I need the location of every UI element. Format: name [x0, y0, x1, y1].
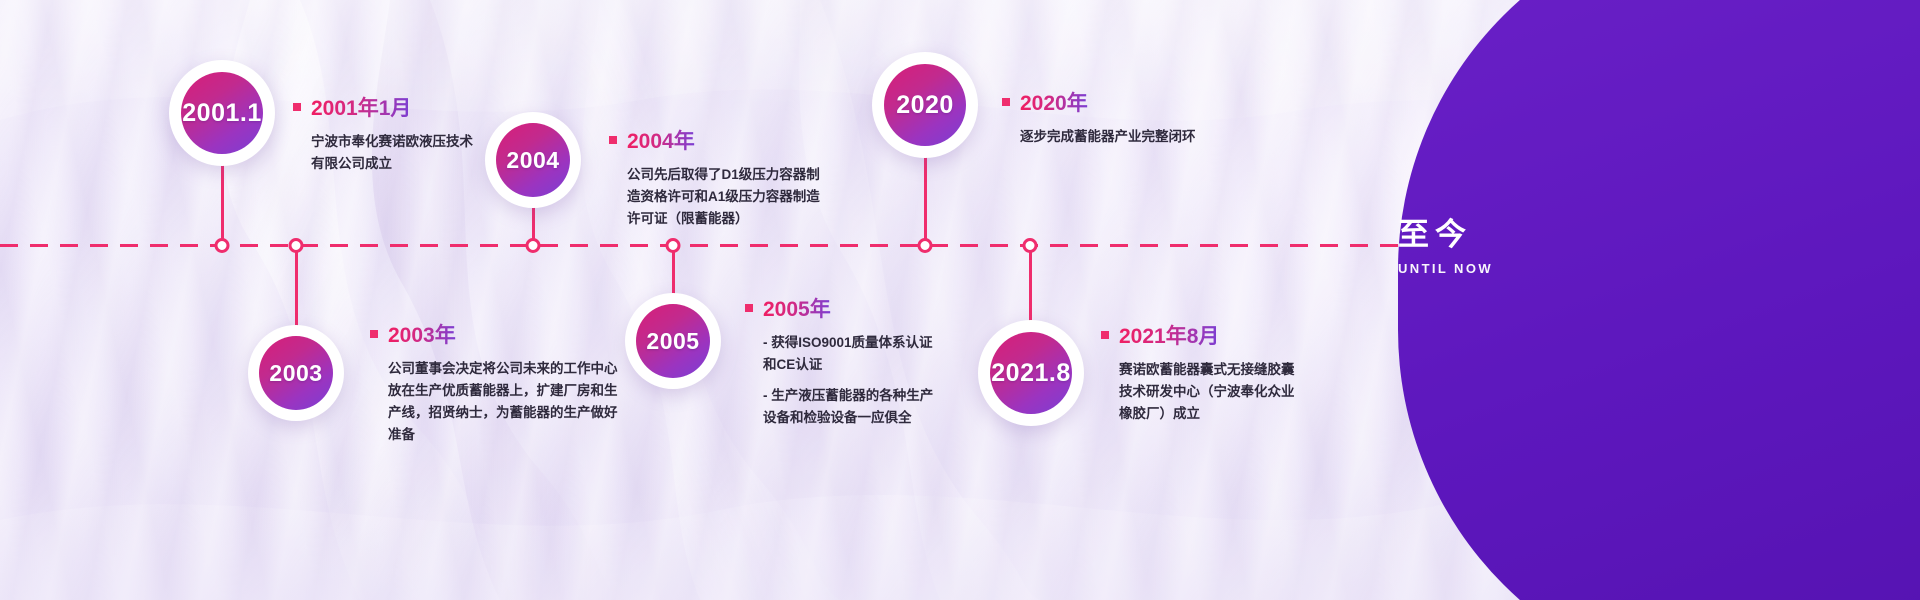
milestone-node-2004-label: 2004	[496, 123, 570, 197]
milestone-node-2001[interactable]: 2001.1	[169, 60, 275, 166]
timeline-infographic: 至今 UNTIL NOW 2001.1 2003 2004 2005 2020 …	[0, 0, 1920, 600]
desc-line: 准备	[388, 424, 600, 446]
milestone-node-2020[interactable]: 2020	[872, 52, 978, 158]
desc-line: 许可证（限蓄能器）	[627, 208, 839, 230]
milestone-block-2004: 2004年 公司先后取得了D1级压力容器制 造资格许可和A1级压力容器制造 许可…	[609, 125, 839, 230]
milestone-desc-2004: 公司先后取得了D1级压力容器制 造资格许可和A1级压力容器制造 许可证（限蓄能器…	[627, 164, 839, 230]
desc-line: 宁波市奉化赛诺欧液压技术	[311, 131, 493, 153]
milestone-desc-2003: 公司董事会决定将公司未来的工作中心 放在生产优质蓄能器上，扩建厂房和生 产线，招…	[388, 358, 600, 445]
milestone-node-2005[interactable]: 2005	[625, 293, 721, 389]
until-now-panel	[1398, 0, 1920, 600]
milestone-node-2004[interactable]: 2004	[485, 112, 581, 208]
stem-2003	[295, 245, 298, 327]
desc-line: 逐步完成蓄能器产业完整闭环	[1020, 126, 1282, 148]
axis-dot-2021	[1023, 238, 1038, 253]
axis-dot-2001	[215, 238, 230, 253]
milestone-node-2021-label: 2021.8	[990, 332, 1072, 414]
milestone-block-2021: 2021年8月 赛诺欧蓄能器囊式无接缝胶囊 技术研发中心（宁波奉化众业 橡胶厂）…	[1101, 320, 1331, 425]
desc-line: 放在生产优质蓄能器上，扩建厂房和生	[388, 380, 600, 402]
milestone-block-2005: 2005年 - 获得ISO9001质量体系认证 和CE认证 - 生产液压蓄能器的…	[745, 293, 965, 428]
milestone-block-2020: 2020年 逐步完成蓄能器产业完整闭环	[1002, 87, 1282, 148]
desc-line: 造资格许可和A1级压力容器制造	[627, 186, 839, 208]
desc-line: 赛诺欧蓄能器囊式无接缝胶囊	[1119, 359, 1331, 381]
desc-line: 有限公司成立	[311, 153, 493, 175]
milestone-title-2004: 2004年	[627, 125, 695, 155]
desc-line: 公司先后取得了D1级压力容器制	[627, 164, 839, 186]
milestone-block-2001: 2001年1月 宁波市奉化赛诺欧液压技术 有限公司成立	[293, 92, 493, 175]
desc-line: 和CE认证	[763, 354, 965, 376]
stem-2005	[672, 245, 675, 300]
milestone-head-2005: 2005年	[745, 293, 965, 323]
milestone-node-2003-label: 2003	[259, 336, 333, 410]
axis-dot-2003	[289, 238, 304, 253]
desc-line: 橡胶厂）成立	[1119, 403, 1331, 425]
milestone-title-2021: 2021年8月	[1119, 320, 1219, 350]
bullet-square-icon	[293, 103, 301, 111]
milestone-head-2001: 2001年1月	[293, 92, 493, 122]
stem-2001	[221, 165, 224, 245]
milestone-desc-2001: 宁波市奉化赛诺欧液压技术 有限公司成立	[311, 131, 493, 175]
desc-line: - 生产液压蓄能器的各种生产	[763, 385, 965, 407]
bullet-square-icon	[1002, 98, 1010, 106]
until-now-label-en: UNTIL NOW	[1398, 261, 1598, 276]
desc-line: - 获得ISO9001质量体系认证	[763, 332, 965, 354]
milestone-block-2003: 2003年 公司董事会决定将公司未来的工作中心 放在生产优质蓄能器上，扩建厂房和…	[370, 319, 600, 445]
milestone-head-2003: 2003年	[370, 319, 600, 349]
bullet-square-icon	[1101, 331, 1109, 339]
stem-2020	[924, 152, 927, 246]
milestone-desc-2005: - 获得ISO9001质量体系认证 和CE认证 - 生产液压蓄能器的各种生产 设…	[763, 332, 965, 428]
bullet-square-icon	[609, 136, 617, 144]
milestone-node-2005-label: 2005	[636, 304, 710, 378]
bullet-square-icon	[745, 304, 753, 312]
stem-2021	[1029, 245, 1032, 323]
milestone-node-2020-label: 2020	[884, 64, 966, 146]
desc-line: 设备和检验设备一应俱全	[763, 407, 965, 429]
milestone-title-2020: 2020年	[1020, 87, 1088, 117]
axis-dot-2004	[526, 238, 541, 253]
milestone-desc-2021: 赛诺欧蓄能器囊式无接缝胶囊 技术研发中心（宁波奉化众业 橡胶厂）成立	[1119, 359, 1331, 425]
axis-dot-2005	[666, 238, 681, 253]
milestone-node-2001-label: 2001.1	[181, 72, 263, 154]
bullet-square-icon	[370, 330, 378, 338]
milestone-head-2021: 2021年8月	[1101, 320, 1331, 350]
milestone-desc-2020: 逐步完成蓄能器产业完整闭环	[1020, 126, 1282, 148]
until-now-label-cn: 至今	[1398, 218, 1598, 252]
desc-line: 公司董事会决定将公司未来的工作中心	[388, 358, 600, 380]
milestone-head-2004: 2004年	[609, 125, 839, 155]
desc-spacer	[763, 376, 965, 385]
milestone-node-2021[interactable]: 2021.8	[978, 320, 1084, 426]
milestone-head-2020: 2020年	[1002, 87, 1282, 117]
until-now-text: 至今 UNTIL NOW	[1398, 218, 1598, 276]
axis-dot-2020	[918, 238, 933, 253]
desc-line: 产线，招贤纳士，为蓄能器的生产做好	[388, 402, 600, 424]
milestone-title-2003: 2003年	[388, 319, 456, 349]
milestone-title-2001: 2001年1月	[311, 92, 411, 122]
desc-line: 技术研发中心（宁波奉化众业	[1119, 381, 1331, 403]
milestone-node-2003[interactable]: 2003	[248, 325, 344, 421]
milestone-title-2005: 2005年	[763, 293, 831, 323]
